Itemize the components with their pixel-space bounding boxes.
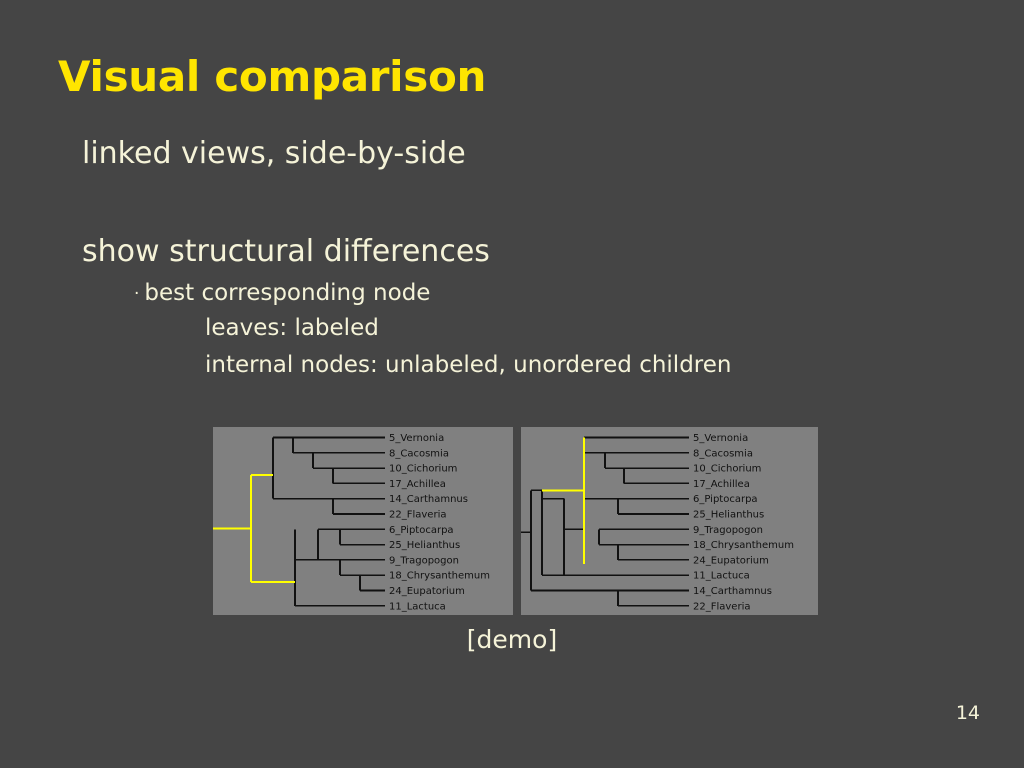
leaf-label[interactable]: 18_Chrysanthemum <box>389 571 490 582</box>
right-tree-panel[interactable]: 5_Vernonia8_Cacosmia10_Cichorium17_Achil… <box>521 427 818 615</box>
leaf-label[interactable]: 6_Piptocarpa <box>693 494 758 505</box>
leaf-label[interactable]: 25_Helianthus <box>389 540 460 551</box>
left-tree-panel[interactable]: 5_Vernonia8_Cacosmia10_Cichorium17_Achil… <box>213 427 513 615</box>
page-title: Visual comparison <box>58 52 486 101</box>
leaf-label[interactable]: 11_Lactuca <box>389 601 446 612</box>
bullet-best-corresponding-node: ·best corresponding node <box>134 280 430 306</box>
leaf-label[interactable]: 25_Helianthus <box>693 510 764 521</box>
leaf-label[interactable]: 24_Eupatorium <box>693 555 769 566</box>
leaf-label[interactable]: 5_Vernonia <box>693 433 748 444</box>
leaf-label[interactable]: 10_Cichorium <box>693 464 761 475</box>
leaf-label[interactable]: 24_Eupatorium <box>389 586 465 597</box>
leaf-label[interactable]: 18_Chrysanthemum <box>693 540 794 551</box>
page-number: 14 <box>956 702 980 724</box>
leaf-label[interactable]: 10_Cichorium <box>389 464 457 475</box>
leaf-label[interactable]: 9_Tragopogon <box>389 555 459 566</box>
leaf-label[interactable]: 14_Carthamnus <box>693 586 772 597</box>
bullet-marker-icon: · <box>134 284 144 304</box>
left-tree-diagram[interactable]: 5_Vernonia8_Cacosmia10_Cichorium17_Achil… <box>213 427 513 615</box>
leaf-label[interactable]: 6_Piptocarpa <box>389 525 454 536</box>
leaf-label[interactable]: 9_Tragopogon <box>693 525 763 536</box>
sub-bullet-internal-nodes: internal nodes: unlabeled, unordered chi… <box>205 352 731 378</box>
leaf-label[interactable]: 11_Lactuca <box>693 571 750 582</box>
sub-bullet-leaves-labeled: leaves: labeled <box>205 315 379 341</box>
slide-canvas: Visual comparison linked views, side-by-… <box>0 0 1024 768</box>
bullet-text: best corresponding node <box>144 280 430 306</box>
leaf-label[interactable]: 22_Flaveria <box>389 510 446 521</box>
right-tree-diagram[interactable]: 5_Vernonia8_Cacosmia10_Cichorium17_Achil… <box>521 427 818 615</box>
leaf-label[interactable]: 8_Cacosmia <box>693 448 753 459</box>
leaf-label[interactable]: 8_Cacosmia <box>389 448 449 459</box>
demo-caption: [demo] <box>0 625 1024 654</box>
leaf-label[interactable]: 14_Carthamnus <box>389 494 468 505</box>
body-line-structural-differences: show structural differences <box>82 234 490 269</box>
leaf-label[interactable]: 22_Flaveria <box>693 601 750 612</box>
leaf-label[interactable]: 5_Vernonia <box>389 433 444 444</box>
body-line-linked-views: linked views, side-by-side <box>82 136 466 171</box>
leaf-label[interactable]: 17_Achillea <box>389 479 446 490</box>
leaf-label[interactable]: 17_Achillea <box>693 479 750 490</box>
